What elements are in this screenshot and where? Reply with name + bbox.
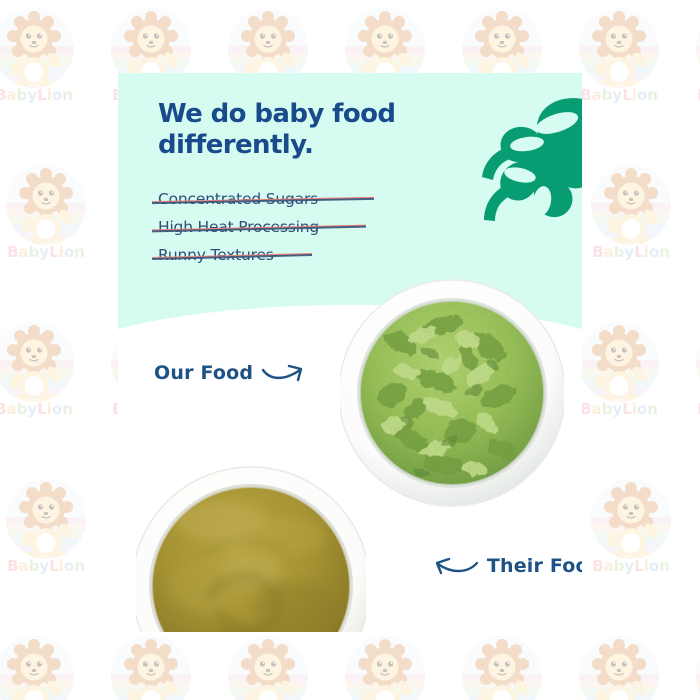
watermark-tile: BabyLion (220, 636, 316, 700)
green-puree-bowl (340, 273, 564, 511)
lion-logo-circle (591, 165, 671, 245)
olive-puree-bowl (136, 458, 366, 632)
watermark-tile: BabyLion (688, 322, 700, 442)
watermark-tile: BabyLion (571, 636, 667, 700)
lion-logo-circle (6, 479, 86, 559)
poster-canvas: BabyLion (0, 0, 700, 700)
lion-logo-circle (0, 8, 74, 88)
lion-logo-circle (696, 8, 700, 88)
lion-logo-circle (345, 636, 425, 700)
annotation-our-food: Our Food (154, 361, 312, 385)
list-item: Runny Textures (158, 241, 458, 269)
page-title: We do baby food differently. (158, 99, 448, 160)
lion-logo-circle (0, 322, 74, 402)
watermark-tile: BabyLion (0, 322, 82, 442)
brand-wordmark: BabyLion (571, 400, 667, 418)
crossed-out-list: Concentrated Sugars High Heat Processing… (158, 185, 458, 269)
headline-line-2: differently. (158, 130, 448, 161)
brand-wordmark: BabyLion (583, 557, 679, 575)
watermark-tile: BabyLion (103, 636, 199, 700)
lion-logo-circle (579, 8, 659, 88)
green-leaf-ornament (454, 95, 582, 230)
brand-wordmark: BabyLion (571, 86, 667, 104)
watermark-tile: BabyLion (688, 8, 700, 128)
annotation-label: Our Food (154, 362, 253, 384)
brand-wordmark: BabyLion (0, 557, 94, 575)
watermark-tile: BabyLion (571, 322, 667, 442)
watermark-tile: BabyLion (337, 636, 433, 700)
list-item: High Heat Processing (158, 213, 458, 241)
lion-logo-circle (579, 322, 659, 402)
watermark-tile: BabyLion (0, 479, 94, 599)
curved-arrow-left-icon (428, 554, 480, 578)
promo-card: We do baby food differently. Concentrate… (118, 73, 582, 632)
lion-logo-circle (696, 636, 700, 700)
lion-logo-circle (462, 636, 542, 700)
brand-wordmark: BabyLion (0, 243, 94, 261)
lion-logo-circle (228, 636, 308, 700)
watermark-tile: BabyLion (571, 8, 667, 128)
curved-arrow-right-icon (260, 361, 312, 385)
watermark-tile: BabyLion (688, 636, 700, 700)
brand-wordmark: BabyLion (0, 86, 82, 104)
lion-logo-circle (111, 636, 191, 700)
annotation-their-food: Their Food (428, 554, 582, 578)
watermark-tile: BabyLion (0, 636, 82, 700)
brand-wordmark: BabyLion (688, 400, 700, 418)
lion-logo-circle (696, 322, 700, 402)
lion-logo-circle (591, 479, 671, 559)
watermark-tile: BabyLion (583, 165, 679, 285)
watermark-tile: BabyLion (583, 479, 679, 599)
lion-logo-circle (0, 636, 74, 700)
brand-wordmark: BabyLion (688, 86, 700, 104)
watermark-tile: BabyLion (454, 636, 550, 700)
brand-wordmark: BabyLion (0, 400, 82, 418)
list-item: Concentrated Sugars (158, 185, 458, 213)
lion-logo-circle (6, 165, 86, 245)
lion-logo-circle (579, 636, 659, 700)
watermark-tile: BabyLion (0, 165, 94, 285)
annotation-label: Their Food (487, 555, 582, 577)
watermark-tile: BabyLion (0, 8, 82, 128)
brand-wordmark: BabyLion (583, 243, 679, 261)
headline-line-1: We do baby food (158, 99, 448, 130)
